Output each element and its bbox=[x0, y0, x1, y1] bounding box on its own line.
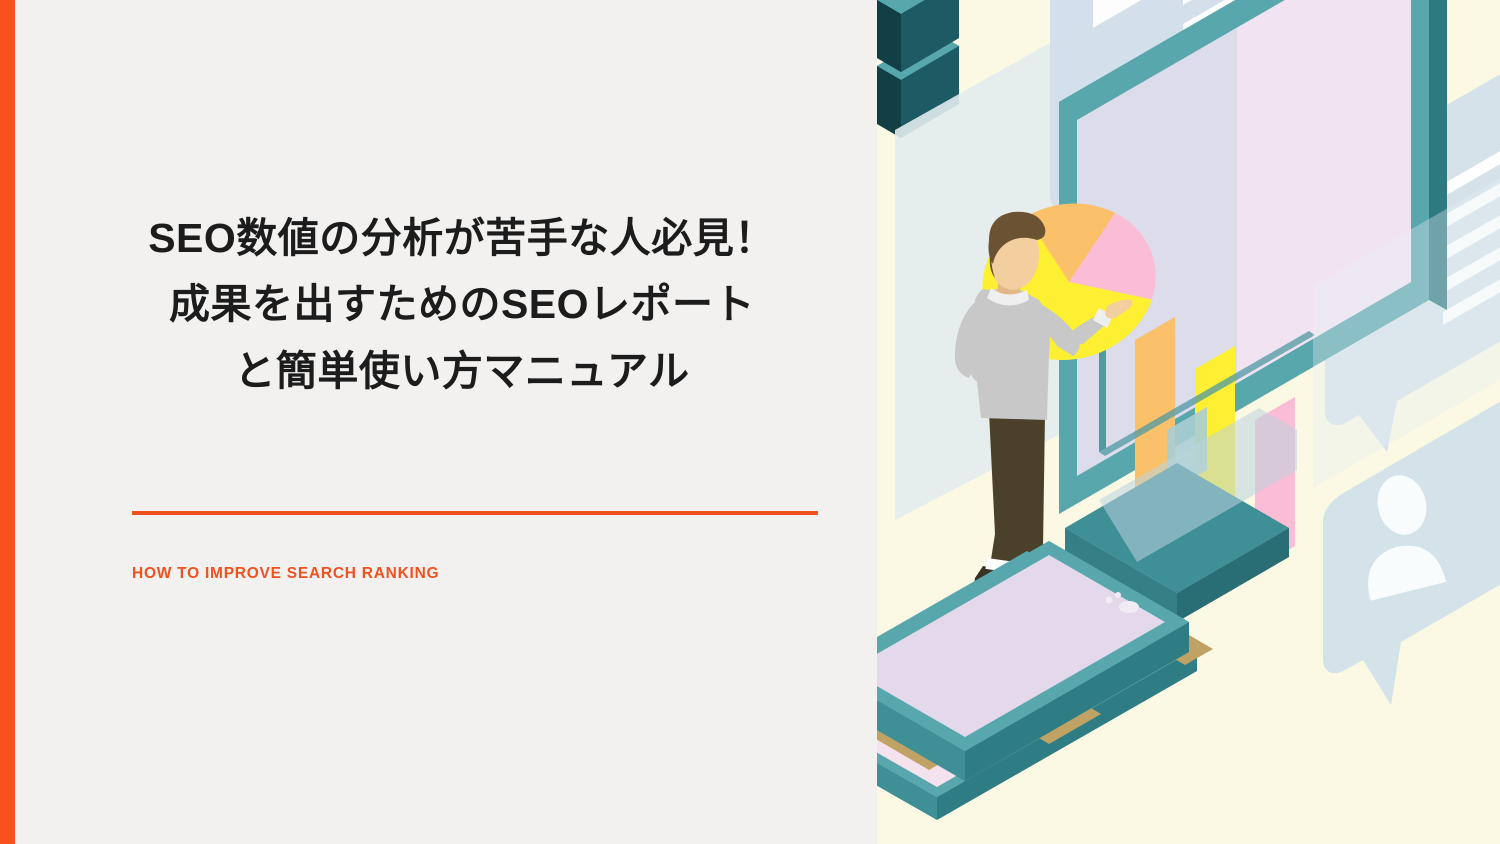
slide-root: SEO数値の分析が苦手な人必見！ 成果を出すためのSEOレポート と簡単使い方マ… bbox=[0, 0, 1500, 844]
title-line-1: SEO数値の分析が苦手な人必見！ bbox=[117, 205, 807, 271]
seo-analytics-illustration bbox=[877, 0, 1500, 844]
subtitle-label: HOW TO IMPROVE SEARCH RANKING bbox=[132, 565, 439, 583]
left-accent-bar bbox=[0, 0, 15, 844]
title-line-3: と簡単使い方マニュアル bbox=[117, 338, 807, 404]
text-panel: SEO数値の分析が苦手な人必見！ 成果を出すためのSEOレポート と簡単使い方マ… bbox=[15, 0, 877, 844]
page-title: SEO数値の分析が苦手な人必見！ 成果を出すためのSEOレポート と簡単使い方マ… bbox=[117, 205, 807, 404]
title-line-2: 成果を出すためのSEOレポート bbox=[117, 271, 807, 337]
illustration-panel bbox=[877, 0, 1500, 844]
title-divider bbox=[132, 511, 818, 515]
